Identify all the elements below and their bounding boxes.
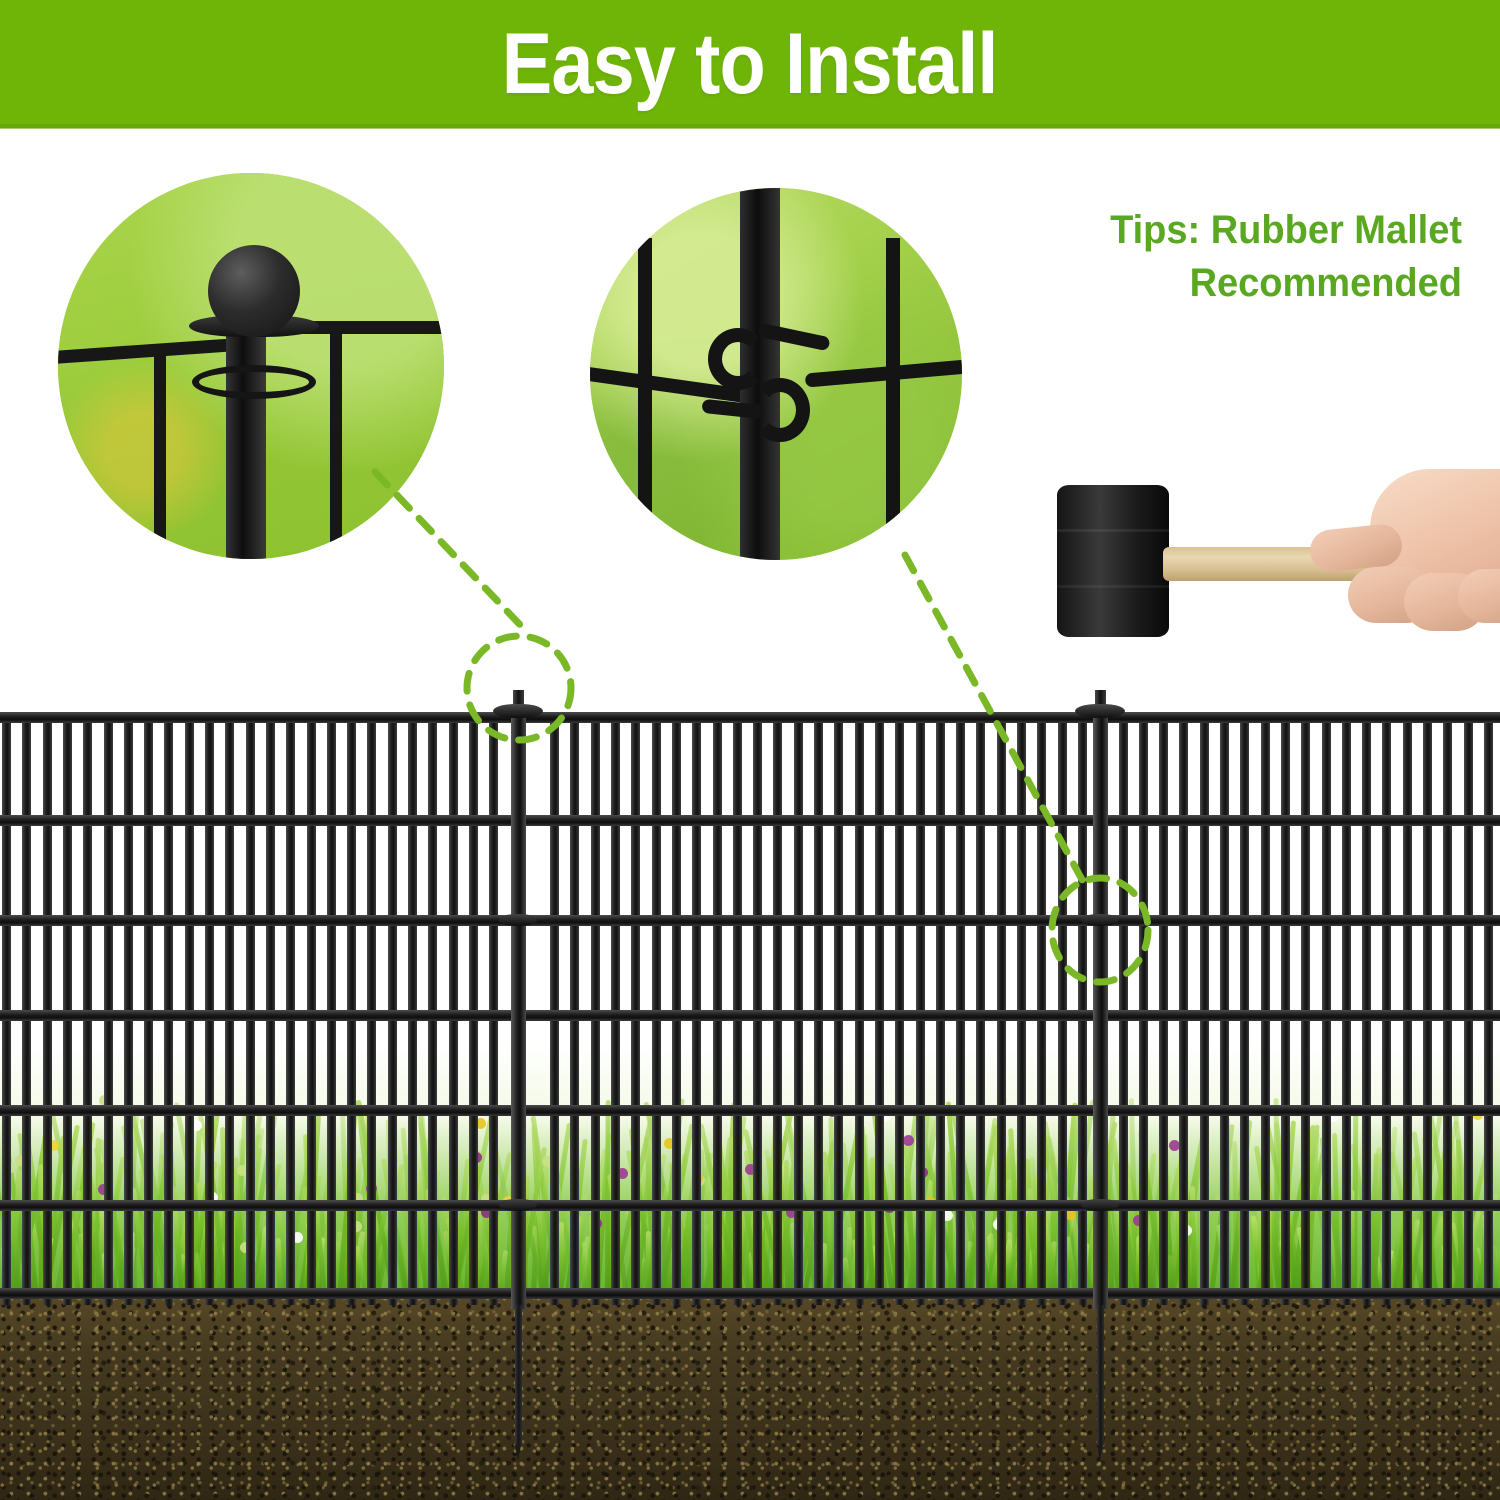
fence-rail <box>0 915 1500 926</box>
fence-picket <box>1078 712 1087 1305</box>
fence-picket <box>1200 712 1209 1305</box>
s-hook-upper-loop-icon <box>708 328 768 390</box>
fence-picket <box>1301 712 1310 1305</box>
fence-picket <box>327 712 336 1305</box>
fence-picket <box>1017 712 1026 1305</box>
fence-picket <box>83 712 92 1305</box>
ground-stake <box>1097 1305 1104 1445</box>
fence-picket <box>1240 712 1249 1305</box>
fence-picket <box>489 712 498 1305</box>
detail-circle-panel-connector <box>590 188 962 560</box>
fence-picket <box>1403 712 1412 1305</box>
fence-picket <box>428 712 437 1305</box>
tips-line-2: Recommended <box>1016 257 1463 310</box>
product-infographic: Easy to Install Tips: Rubber Mallet Reco… <box>0 0 1500 1500</box>
fence-picket <box>1342 712 1351 1305</box>
fence-picket <box>1058 712 1067 1305</box>
page-title: Easy to Install <box>502 21 998 107</box>
fence-picket <box>570 712 579 1305</box>
fence-picket <box>1179 712 1188 1305</box>
fence-picket <box>388 712 397 1305</box>
fence-picket <box>330 323 342 559</box>
fence-picket <box>1464 712 1473 1305</box>
fence-picket <box>1322 712 1331 1305</box>
fence-picket <box>834 712 843 1305</box>
fence-assembly <box>0 690 1500 1500</box>
fence-picket <box>672 712 681 1305</box>
fence-picket <box>1443 712 1452 1305</box>
fence-picket <box>855 712 864 1305</box>
post-finial-left <box>511 712 526 1309</box>
fence-picket <box>246 712 255 1305</box>
fence-scene <box>0 690 1500 1500</box>
fence-picket <box>1281 712 1290 1305</box>
hand-gripping-mallet <box>1300 463 1500 653</box>
fence-rail <box>0 1288 1500 1299</box>
fence-rail <box>0 1010 1500 1021</box>
fence-picket <box>307 712 316 1305</box>
tips-line-1: Tips: Rubber Mallet <box>1110 208 1462 252</box>
fence-picket <box>733 712 742 1305</box>
fence-picket <box>976 712 985 1305</box>
fence-picket <box>652 712 661 1305</box>
post-collar <box>493 704 543 718</box>
fence-rail <box>0 1105 1500 1116</box>
fence-picket <box>164 712 173 1305</box>
fence-rail <box>0 815 1500 826</box>
fence-picket <box>550 712 559 1305</box>
fence-picket <box>408 712 417 1305</box>
fence-picket <box>1362 712 1371 1305</box>
fence-picket <box>124 712 133 1305</box>
fence-picket <box>1220 712 1229 1305</box>
fence-rail <box>0 712 1500 723</box>
fence-picket <box>631 712 640 1305</box>
fence-picket <box>144 712 153 1305</box>
fence-picket <box>367 712 376 1305</box>
fence-picket <box>1037 712 1046 1305</box>
fence-picket <box>1159 712 1168 1305</box>
fence-picket <box>1139 712 1148 1305</box>
fence-picket <box>692 712 701 1305</box>
ball-finial-icon <box>208 245 300 337</box>
fence-picket <box>875 712 884 1305</box>
fence-picket <box>347 712 356 1305</box>
fence-picket <box>205 712 214 1305</box>
fence-picket <box>936 712 945 1305</box>
fence-picket <box>956 712 965 1305</box>
panel-joint-connector <box>1081 1199 1119 1211</box>
fence-picket <box>814 712 823 1305</box>
fence-picket <box>469 712 478 1305</box>
ground-stake <box>515 1305 522 1445</box>
fence-picket <box>104 712 113 1305</box>
fence-picket <box>886 238 900 538</box>
fence-picket <box>1119 712 1128 1305</box>
fence-picket <box>753 712 762 1305</box>
fence-picket <box>154 353 166 559</box>
fence-picket <box>43 712 52 1305</box>
fence-picket <box>2 712 11 1305</box>
fence-picket <box>773 712 782 1305</box>
panel-joint-connector <box>499 1199 537 1211</box>
fence-rail <box>0 1200 1500 1211</box>
panel-joint-connector <box>1081 914 1119 926</box>
fence-picket <box>1261 712 1270 1305</box>
post-retaining-ring <box>192 365 316 399</box>
fence-picket <box>225 712 234 1305</box>
fence-picket <box>22 712 31 1305</box>
post-finial-right <box>1093 712 1108 1309</box>
panel-joint-connector <box>499 914 537 926</box>
fence-picket <box>286 712 295 1305</box>
fence-picket <box>895 712 904 1305</box>
mallet-head <box>1057 485 1169 637</box>
fence-picket <box>794 712 803 1305</box>
fence-picket <box>916 712 925 1305</box>
fence-picket <box>63 712 72 1305</box>
fence-post-shaft <box>226 325 266 559</box>
detail-circle-ball-finial <box>58 173 444 559</box>
fence-picket <box>997 712 1006 1305</box>
tips-text: Tips: Rubber Mallet Recommended <box>1016 204 1463 310</box>
fence-picket <box>1423 712 1432 1305</box>
post-collar <box>1075 704 1125 718</box>
fence-picket <box>266 712 275 1305</box>
banner-underline <box>0 124 1500 129</box>
fence-picket <box>591 712 600 1305</box>
fence-picket <box>449 712 458 1305</box>
fence-picket <box>185 712 194 1305</box>
rubber-mallet-illustration <box>1045 455 1500 660</box>
fence-picket <box>1484 712 1493 1305</box>
fence-picket <box>1382 712 1391 1305</box>
header-banner: Easy to Install <box>0 0 1500 128</box>
fence-picket <box>713 712 722 1305</box>
fence-picket <box>611 712 620 1305</box>
